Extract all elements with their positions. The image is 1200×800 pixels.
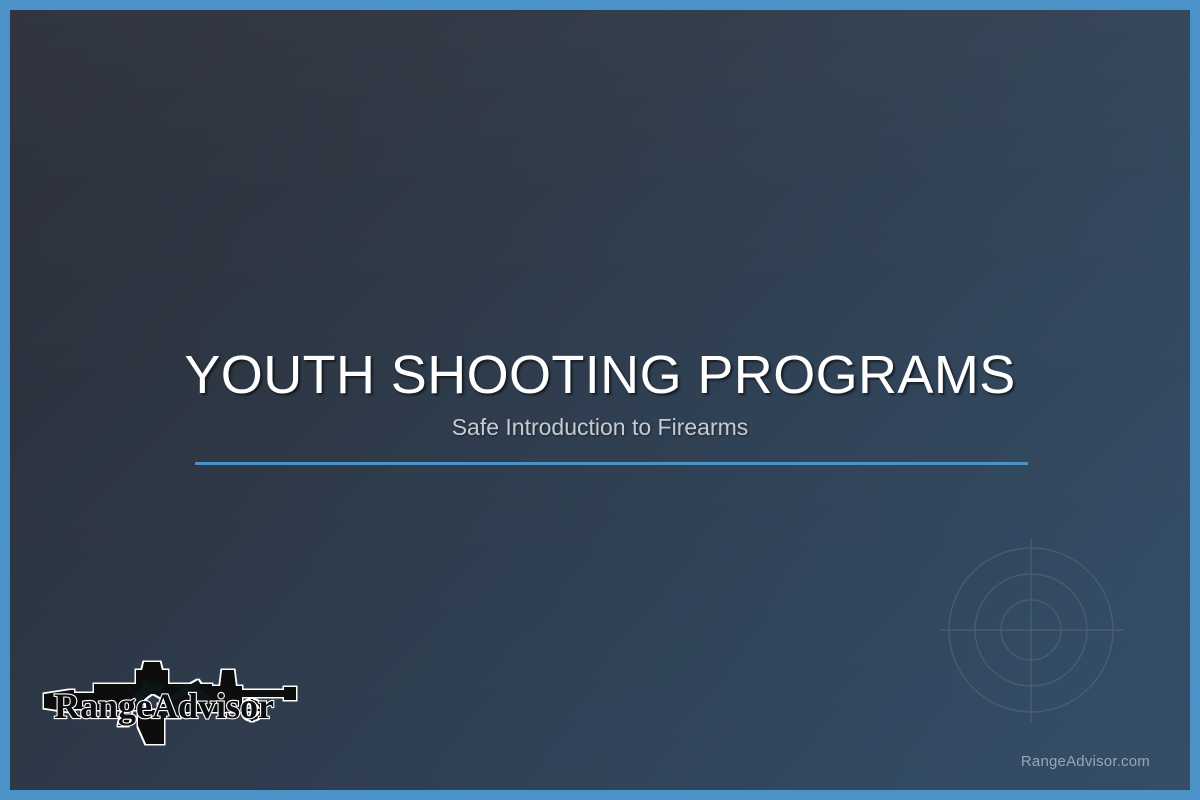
logo-wordmark: RangeAdvisor: [54, 686, 274, 726]
presentation-slide: YOUTH SHOOTING PROGRAMS Safe Introductio…: [0, 0, 1200, 800]
page-title: YOUTH SHOOTING PROGRAMS: [10, 346, 1190, 404]
page-subtitle: Safe Introduction to Firearms: [10, 414, 1190, 442]
accent-divider: [195, 462, 1028, 465]
crosshair-target-icon: [931, 530, 1131, 730]
rifle-logo-icon: RangeAdvisor: [40, 660, 308, 748]
footer-website: RangeAdvisor.com: [1021, 753, 1150, 770]
title-block: YOUTH SHOOTING PROGRAMS Safe Introductio…: [10, 346, 1190, 442]
